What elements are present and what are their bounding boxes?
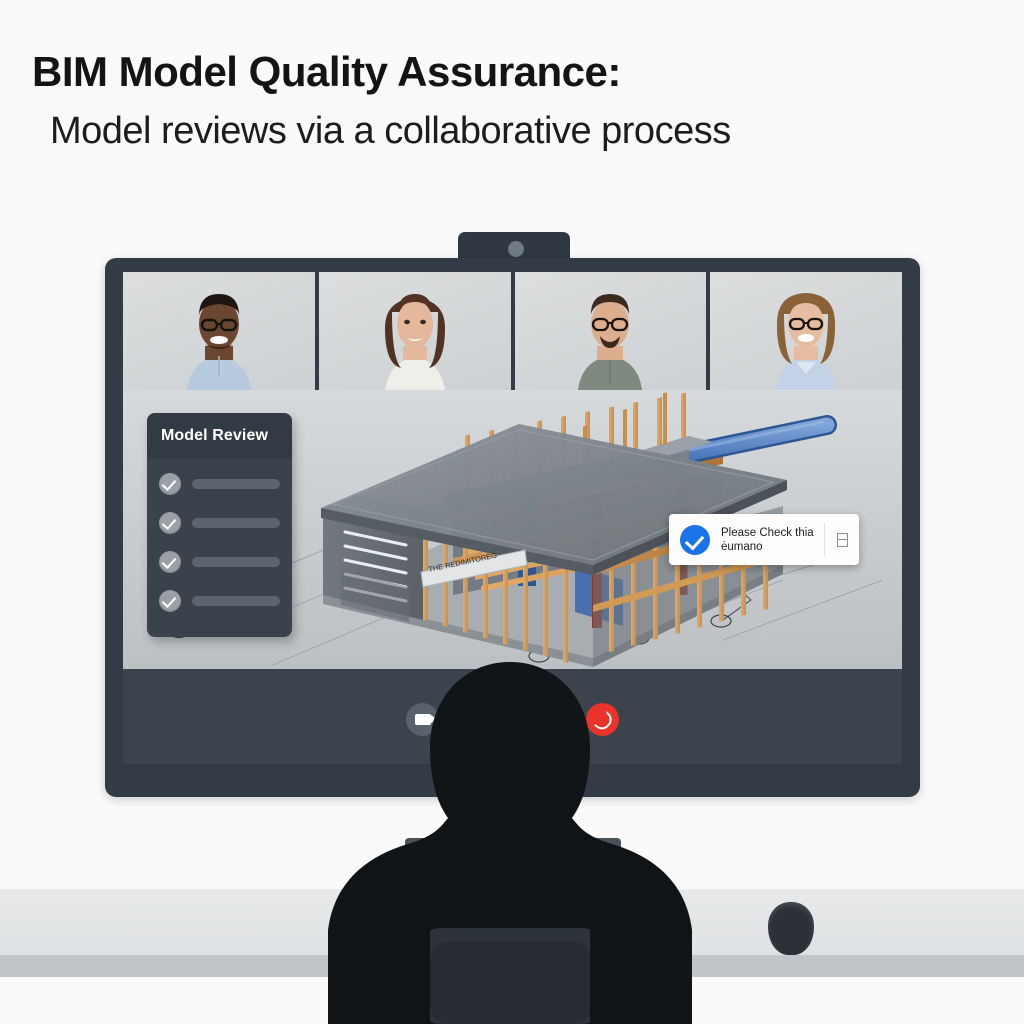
- review-item[interactable]: [159, 551, 280, 573]
- bim-viewport[interactable]: THE REDIMITOREG Model Review: [123, 390, 902, 669]
- notification-line-2: ėumano: [721, 540, 818, 554]
- participant-tile[interactable]: [319, 272, 511, 390]
- check-circle-icon: [680, 525, 710, 555]
- participant-tile[interactable]: [515, 272, 707, 390]
- page-title: BIM Model Quality Assurance:: [0, 0, 1024, 96]
- participant-avatar: [515, 272, 707, 390]
- webcam-lens-icon: [508, 241, 524, 257]
- model-review-panel[interactable]: Model Review: [147, 413, 292, 637]
- right-shoulder: [590, 926, 624, 1024]
- review-item-label: [192, 557, 280, 567]
- viewer-silhouette-shape: [300, 660, 720, 1024]
- viewer-silhouette: [300, 660, 720, 1024]
- check-circle-icon[interactable]: [159, 590, 181, 612]
- check-circle-icon[interactable]: [159, 473, 181, 495]
- review-item[interactable]: [159, 512, 280, 534]
- model-review-header: Model Review: [147, 413, 292, 459]
- participant-avatar: [319, 272, 511, 390]
- model-review-title: Model Review: [161, 427, 268, 445]
- participant-strip: [123, 272, 902, 390]
- window-split-icon: [837, 533, 848, 547]
- review-item[interactable]: [159, 473, 280, 495]
- window-split-button[interactable]: [825, 533, 859, 547]
- page-subtitle: Model reviews via a collaborative proces…: [0, 96, 1024, 153]
- review-item-label: [192, 518, 280, 528]
- review-item-label: [192, 479, 280, 489]
- notification-line-1: Please Check thia: [721, 526, 818, 540]
- heading-block: BIM Model Quality Assurance: Model revie…: [0, 0, 1024, 153]
- participant-avatar: [123, 272, 315, 390]
- notification-toast[interactable]: Please Check thia ėumano: [669, 514, 859, 565]
- check-circle-icon[interactable]: [159, 512, 181, 534]
- participant-tile[interactable]: [123, 272, 315, 390]
- participant-avatar: [710, 272, 902, 390]
- chair-back-inner: [430, 942, 592, 1024]
- left-shoulder: [396, 926, 430, 1024]
- notification-text-block: Please Check thia ėumano: [710, 526, 824, 554]
- participant-tile[interactable]: [710, 272, 902, 390]
- review-item-label: [192, 596, 280, 606]
- review-item[interactable]: [159, 590, 280, 612]
- computer-mouse[interactable]: [768, 902, 814, 955]
- check-circle-icon[interactable]: [159, 551, 181, 573]
- model-review-list: [147, 459, 292, 612]
